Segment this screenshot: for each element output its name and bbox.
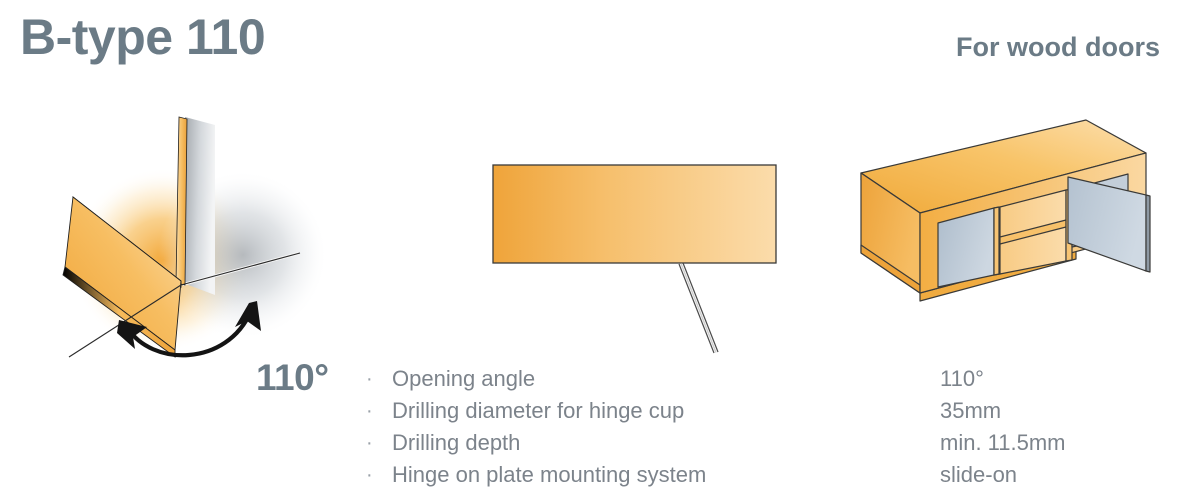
spec-row: · Drilling diameter for hinge cup [366,395,806,427]
spec-value: slide-on [940,459,1170,491]
page-subtitle: For wood doors [956,32,1160,63]
spec-value: 110° [940,363,1170,395]
cabinet-grey-panel [183,117,215,295]
cabinet-diagram [828,115,1178,345]
spec-value: min. 11.5mm [940,427,1170,459]
spec-label: Hinge on plate mounting system [392,459,706,491]
spec-value-list: 110° 35mm min. 11.5mm slide-on [940,363,1170,491]
spec-label: Drilling depth [392,427,520,459]
spec-value: 35mm [940,395,1170,427]
page-title: B-type 110 [20,8,265,66]
bullet-icon: · [366,395,392,427]
spec-label: Drilling diameter for hinge cup [392,395,684,427]
wood-door-board-diagram [470,140,810,365]
bullet-icon: · [366,459,392,491]
door-opening-angle-diagram [55,105,375,380]
bullet-icon: · [366,427,392,459]
board-leader-line [679,263,718,353]
spec-row: · Hinge on plate mounting system [366,459,806,491]
spec-row: · Opening angle [366,363,806,395]
opening-angle-callout: 110° [256,357,329,399]
bullet-icon: · [366,363,392,395]
page-root: B-type 110 For wood doors [0,0,1178,503]
door-vertical-edge [176,117,187,285]
spec-row: · Drilling depth [366,427,806,459]
spec-label: Opening angle [392,363,535,395]
spec-label-list: · Opening angle · Drilling diameter for … [366,363,806,491]
cabinet-door-right-edge [1146,195,1150,272]
board-face [493,165,776,263]
